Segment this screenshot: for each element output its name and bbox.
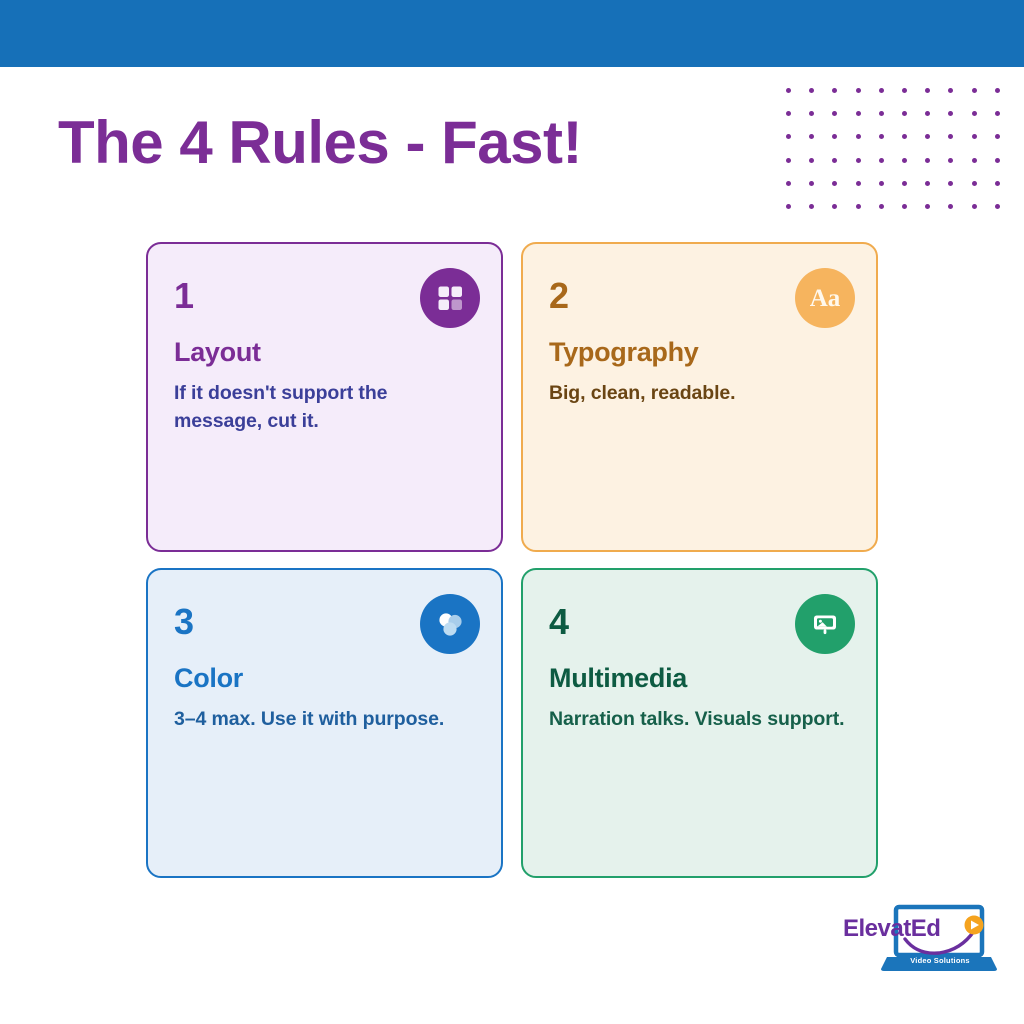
decorative-dot: [972, 88, 977, 93]
decorative-dot: [856, 134, 861, 139]
three-circles-palette-icon: [420, 594, 480, 654]
decorative-dot: [786, 111, 791, 116]
rule-card-color[interactable]: 3 Color 3–4 max. Use it with purpose.: [146, 568, 503, 878]
decorative-dot: [902, 158, 907, 163]
decorative-dot: [925, 204, 930, 209]
dot-grid-decoration: [786, 88, 998, 208]
decorative-dot: [972, 181, 977, 186]
logo-tagline: Video Solutions: [895, 956, 985, 965]
rules-card-grid: 1 Layout If it doesn't support the messa…: [146, 242, 878, 878]
decorative-dot: [995, 181, 1000, 186]
decorative-dot: [809, 204, 814, 209]
decorative-dot: [856, 111, 861, 116]
decorative-dot: [972, 158, 977, 163]
decorative-dot: [786, 88, 791, 93]
page-title: The 4 Rules - Fast!: [58, 108, 582, 177]
grid-2x2-icon: [420, 268, 480, 328]
decorative-dot: [832, 111, 837, 116]
logo-wordmark: ElevatEd: [843, 915, 940, 943]
decorative-dot: [879, 134, 884, 139]
decorative-dot: [832, 181, 837, 186]
decorative-dot: [809, 111, 814, 116]
decorative-dot: [786, 158, 791, 163]
slide-canvas: The 4 Rules - Fast! 1 Layout If it doesn…: [0, 0, 1024, 1024]
decorative-dot: [809, 181, 814, 186]
rule-card-multimedia[interactable]: 4 Multimedia Narration talks. Visuals su…: [521, 568, 878, 878]
decorative-dot: [995, 204, 1000, 209]
aa-letters-icon: Aa: [795, 268, 855, 328]
decorative-dot: [948, 111, 953, 116]
rule-title: Multimedia: [549, 664, 850, 694]
rule-card-layout[interactable]: 1 Layout If it doesn't support the messa…: [146, 242, 503, 552]
decorative-dot: [879, 158, 884, 163]
decorative-dot: [809, 158, 814, 163]
decorative-dot: [786, 204, 791, 209]
rule-title: Layout: [174, 338, 475, 368]
rule-card-typography[interactable]: Aa 2 Typography Big, clean, readable.: [521, 242, 878, 552]
decorative-dot: [809, 88, 814, 93]
decorative-dot: [786, 134, 791, 139]
presentation-screen-icon: [795, 594, 855, 654]
decorative-dot: [995, 111, 1000, 116]
decorative-dot: [902, 134, 907, 139]
rule-description: Big, clean, readable.: [549, 379, 850, 407]
decorative-dot: [856, 158, 861, 163]
decorative-dot: [879, 181, 884, 186]
decorative-dot: [856, 204, 861, 209]
decorative-dot: [879, 204, 884, 209]
decorative-dot: [832, 204, 837, 209]
decorative-dot: [995, 158, 1000, 163]
decorative-dot: [832, 158, 837, 163]
decorative-dot: [856, 181, 861, 186]
decorative-dot: [948, 181, 953, 186]
decorative-dot: [948, 134, 953, 139]
decorative-dot: [925, 88, 930, 93]
aa-glyph-text: Aa: [810, 286, 841, 311]
decorative-dot: [832, 134, 837, 139]
rule-description: Narration talks. Visuals support.: [549, 705, 850, 733]
decorative-dot: [925, 181, 930, 186]
decorative-dot: [786, 181, 791, 186]
decorative-dot: [856, 88, 861, 93]
decorative-dot: [948, 88, 953, 93]
decorative-dot: [925, 158, 930, 163]
decorative-dot: [902, 181, 907, 186]
decorative-dot: [809, 134, 814, 139]
decorative-dot: [925, 111, 930, 116]
decorative-dot: [948, 158, 953, 163]
decorative-dot: [902, 111, 907, 116]
decorative-dot: [902, 204, 907, 209]
decorative-dot: [972, 111, 977, 116]
decorative-dot: [879, 88, 884, 93]
decorative-dot: [995, 88, 1000, 93]
decorative-dot: [948, 204, 953, 209]
decorative-dot: [972, 134, 977, 139]
rule-title: Color: [174, 664, 475, 694]
decorative-dot: [879, 111, 884, 116]
decorative-dot: [925, 134, 930, 139]
top-accent-bar: [0, 0, 1024, 67]
decorative-dot: [972, 204, 977, 209]
rule-description: 3–4 max. Use it with purpose.: [174, 705, 475, 733]
rule-title: Typography: [549, 338, 850, 368]
decorative-dot: [832, 88, 837, 93]
decorative-dot: [902, 88, 907, 93]
decorative-dot: [995, 134, 1000, 139]
brand-logo[interactable]: ElevatEd Video Solutions: [843, 903, 998, 975]
rule-description: If it doesn't support the message, cut i…: [174, 379, 475, 436]
